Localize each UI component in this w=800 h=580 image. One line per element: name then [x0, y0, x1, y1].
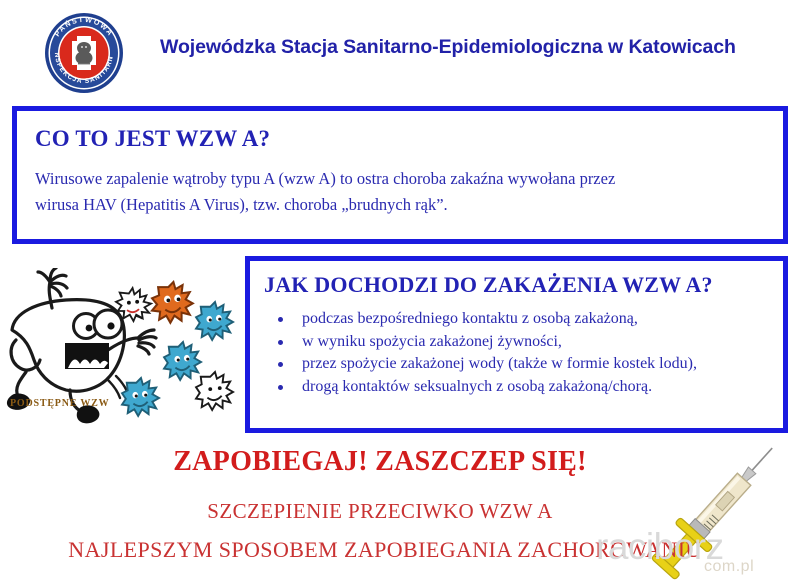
illustration-caption: PODSTĘPNE WZW — [10, 398, 109, 409]
cta-line-3: NAJLEPSZYM SPOSOBEM ZAPOBIEGANIA ZACHORO… — [0, 537, 770, 563]
page-title: Wojewódzka Stacja Sanitarno-Epidemiologi… — [160, 36, 790, 59]
bullet-dot-icon — [278, 385, 283, 390]
info-box-how-infection-occurs: JAK DOCHODZI DO ZAKAŻENIA WZW A? podczas… — [245, 256, 788, 433]
list-item-label: drogą kontaktów seksualnych z osobą zaka… — [302, 378, 652, 395]
info-box-what-is-wzwa: CO TO JEST WZW A? Wirusowe zapalenie wąt… — [12, 106, 788, 244]
list-item: drogą kontaktów seksualnych z osobą zaka… — [264, 376, 773, 399]
list-item-label: w wyniku spożycia zakażonej żywności, — [302, 333, 562, 350]
box-what-title: CO TO JEST WZW A? — [35, 126, 765, 152]
box-how-title: JAK DOCHODZI DO ZAKAŻENIA WZW A? — [264, 272, 773, 298]
paragraph-line: wirusa HAV (Hepatitis A Virus), tzw. cho… — [35, 192, 765, 218]
list-item: podczas bezpośredniego kontaktu z osobą … — [264, 308, 773, 331]
bullet-dot-icon — [278, 317, 283, 322]
cta-headline: ZAPOBIEGAJ! ZASZCZEP SIĘ! — [0, 446, 760, 478]
paragraph-line: Wirusowe zapalenie wątroby typu A (wzw A… — [35, 166, 765, 192]
poster-canvas: PAŃSTWOWA INSPEKCJA SANITARNA Wojewódzka… — [0, 0, 800, 580]
list-item-label: przez spożycie zakażonej wody (także w f… — [302, 355, 697, 372]
bullet-dot-icon — [278, 340, 283, 345]
list-item-label: podczas bezpośredniego kontaktu z osobą … — [302, 310, 638, 327]
header: PAŃSTWOWA INSPEKCJA SANITARNA Wojewódzka… — [0, 0, 800, 100]
bullet-dot-icon — [278, 362, 283, 367]
transmission-routes-list: podczas bezpośredniego kontaktu z osobą … — [264, 308, 773, 399]
cta-line-2: SZCZEPIENIE PRZECIWKO WZW A — [0, 499, 760, 524]
box-what-paragraph: Wirusowe zapalenie wątroby typu A (wzw A… — [35, 166, 765, 217]
panstwowa-inspekcja-sanitarna-logo: PAŃSTWOWA INSPEKCJA SANITARNA — [44, 12, 124, 94]
list-item: przez spożycie zakażonej wody (także w f… — [264, 353, 773, 376]
list-item: w wyniku spożycia zakażonej żywności, — [264, 331, 773, 354]
